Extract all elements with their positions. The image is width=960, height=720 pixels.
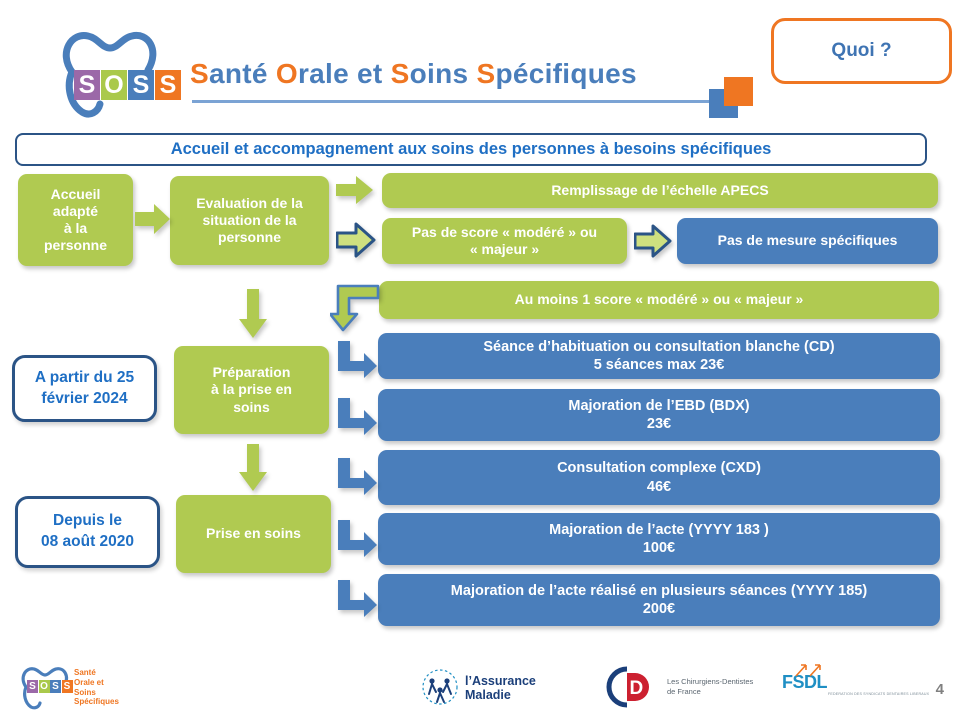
footer-soss-line-4: Spécifiques [74, 697, 119, 707]
page-number: 4 [936, 681, 944, 698]
date-box-2024-line2: février 2024 [35, 389, 134, 410]
cdf-letter: D [630, 678, 644, 699]
text-line-1: Pas de score « modéré » ou [412, 224, 597, 241]
arrow-down-green-1 [238, 289, 268, 339]
arrow-elbow-right-blue-5 [336, 578, 378, 618]
outcome-majoration-acte-plusieurs: Majoration de l’acte réalisé en plusieur… [378, 574, 940, 626]
footer-logo-letter-4: S [62, 680, 73, 693]
logo-letter-1: S [74, 70, 100, 100]
title-underline [192, 100, 710, 103]
step-prise-en-soins: Prise en soins [176, 495, 331, 573]
outcome-majoration-acte-plusieurs-line1: Majoration de l’acte réalisé en plusieur… [451, 582, 867, 600]
text-line-1: Remplissage de l’échelle APECS [551, 182, 768, 199]
footer-logo-letter-3: S [50, 680, 61, 693]
decor-square-orange [724, 77, 753, 106]
assurance-figures-icon [420, 668, 460, 706]
outcome-consultation-complexe-line1: Consultation complexe (CXD) [557, 459, 761, 477]
footer-soss-boxes: S O S S [27, 680, 73, 693]
title-part-3: O [276, 58, 298, 89]
text-line-2: situation de la [196, 212, 303, 229]
arrow-right-outlined-2 [634, 224, 672, 258]
outcome-consultation-complexe-line2: 46€ [557, 478, 761, 496]
arrow-right-green-2 [336, 175, 374, 205]
title-part-1: S [190, 58, 209, 89]
arrow-right-outlined-1 [336, 222, 376, 258]
outcome-pas-de-score: Pas de score « modéré » ou« majeur » [382, 218, 627, 264]
outcome-majoration-ebd: Majoration de l’EBD (BDX) 23€ [378, 389, 940, 441]
cdf-text: Les Chirurgiens-Dentistes de France [667, 677, 753, 697]
outcome-majoration-acte-plusieurs-line2: 200€ [451, 600, 867, 618]
text-line-1: Accueil [44, 186, 107, 203]
footer-cdf-logo: D Les Chirurgiens-Dentistes de France [605, 665, 795, 709]
logo-letter-4: S [155, 70, 181, 100]
outcome-seance-habituation-line1: Séance d’habituation ou consultation bla… [483, 338, 834, 356]
cdf-mark-icon: D [605, 665, 663, 709]
text-line-3: personne [196, 229, 303, 246]
title-part-4: rale et [298, 58, 391, 89]
outcome-seance-habituation-line2: 5 séances max 23€ [483, 356, 834, 374]
quoi-badge: Quoi ? [771, 18, 952, 84]
cdf-line-1: Les Chirurgiens-Dentistes [667, 677, 753, 687]
title-part-7: S [476, 58, 495, 89]
date-box-2020: Depuis le 08 août 2020 [15, 496, 160, 568]
step-evaluation: Evaluation de lasituation de lapersonne [170, 176, 329, 265]
outcome-majoration-ebd-line1: Majoration de l’EBD (BDX) [568, 397, 749, 415]
slide-root: S O S S Santé Orale et Soins Spécifiques… [0, 0, 960, 720]
text-line-3: à la [44, 220, 107, 237]
assurance-line-2: Maladie [465, 688, 536, 702]
footer-assurance-maladie-logo: l’Assurance Maladie [420, 668, 580, 708]
footer-soss-line-2: Orale et [74, 678, 119, 688]
outcome-apecs: Remplissage de l’échelle APECS [382, 173, 938, 208]
arrow-elbow-right-blue-1 [336, 339, 378, 379]
page-title: Santé Orale et Soins Spécifiques [190, 58, 637, 90]
assurance-line-1: l’Assurance [465, 674, 536, 688]
outcome-majoration-acte-line2: 100€ [549, 539, 769, 557]
footer-soss-line-3: Soins [74, 688, 119, 698]
date-box-2020-line2: 08 août 2020 [41, 532, 134, 553]
footer-soss-tagline: Santé Orale et Soins Spécifiques [74, 668, 119, 707]
text-line-1: Prise en soins [206, 525, 301, 542]
footer-logo-letter-1: S [27, 680, 38, 693]
footer-soss-logo: S O S S Santé Orale et Soins Spécifiques [16, 664, 346, 710]
arrow-elbow-down-green [330, 284, 380, 332]
outcome-majoration-acte: Majoration de l’acte (YYYY 183 ) 100€ [378, 513, 940, 565]
outcome-consultation-complexe: Consultation complexe (CXD) 46€ [378, 450, 940, 505]
logo-letter-3: S [128, 70, 154, 100]
text-line-2: à la prise en [211, 381, 292, 398]
footer-soss-line-1: Santé [74, 668, 119, 678]
text-line-3: soins [211, 399, 292, 416]
arrow-elbow-right-blue-2 [336, 396, 378, 436]
text-line-1: Au moins 1 score « modéré » ou « majeur … [515, 291, 804, 308]
arrow-down-green-2 [238, 444, 268, 492]
step-accueil: Accueiladaptéà lapersonne [18, 174, 133, 266]
arrow-right-green-1 [135, 202, 171, 236]
outcome-au-moins-1-score: Au moins 1 score « modéré » ou « majeur … [379, 281, 939, 319]
footer-fsdl-logo: FSDL FEDERATION DES SYNDICATS DENTAIRES … [782, 668, 932, 708]
date-box-2020-line1: Depuis le [41, 511, 134, 532]
cdf-line-2: de France [667, 687, 753, 697]
date-box-2024: A partir du 25 février 2024 [12, 355, 157, 422]
text-line-2: adapté [44, 203, 107, 220]
text-line-1: Préparation [211, 364, 292, 381]
banner-title: Accueil et accompagnement aux soins des … [15, 133, 927, 166]
outcome-seance-habituation: Séance d’habituation ou consultation bla… [378, 333, 940, 379]
date-box-2024-line1: A partir du 25 [35, 368, 134, 389]
outcome-pas-de-mesure: Pas de mesure spécifiques [677, 218, 938, 264]
outcome-pas-de-mesure-line1: Pas de mesure spécifiques [718, 232, 898, 250]
title-part-5: S [391, 58, 410, 89]
step-preparation: Préparationà la prise ensoins [174, 346, 329, 434]
footer-logo-letter-2: O [39, 680, 50, 693]
fsdl-subtitle: FEDERATION DES SYNDICATS DENTAIRES LIBER… [828, 692, 929, 696]
title-part-8: pécifiques [495, 58, 636, 89]
logo-letter-2: O [101, 70, 127, 100]
text-line-4: personne [44, 237, 107, 254]
arrow-elbow-right-blue-3 [336, 456, 378, 496]
title-part-6: oins [410, 58, 477, 89]
soss-logo: S O S S [52, 26, 182, 120]
outcome-majoration-ebd-line2: 23€ [568, 415, 749, 433]
outcome-majoration-acte-line1: Majoration de l’acte (YYYY 183 ) [549, 521, 769, 539]
text-line-1: Evaluation de la [196, 195, 303, 212]
text-line-2: « majeur » [412, 241, 597, 258]
assurance-maladie-text: l’Assurance Maladie [465, 674, 536, 702]
arrow-elbow-right-blue-4 [336, 518, 378, 558]
title-part-2: anté [209, 58, 276, 89]
fsdl-arrows-icon [794, 662, 828, 678]
